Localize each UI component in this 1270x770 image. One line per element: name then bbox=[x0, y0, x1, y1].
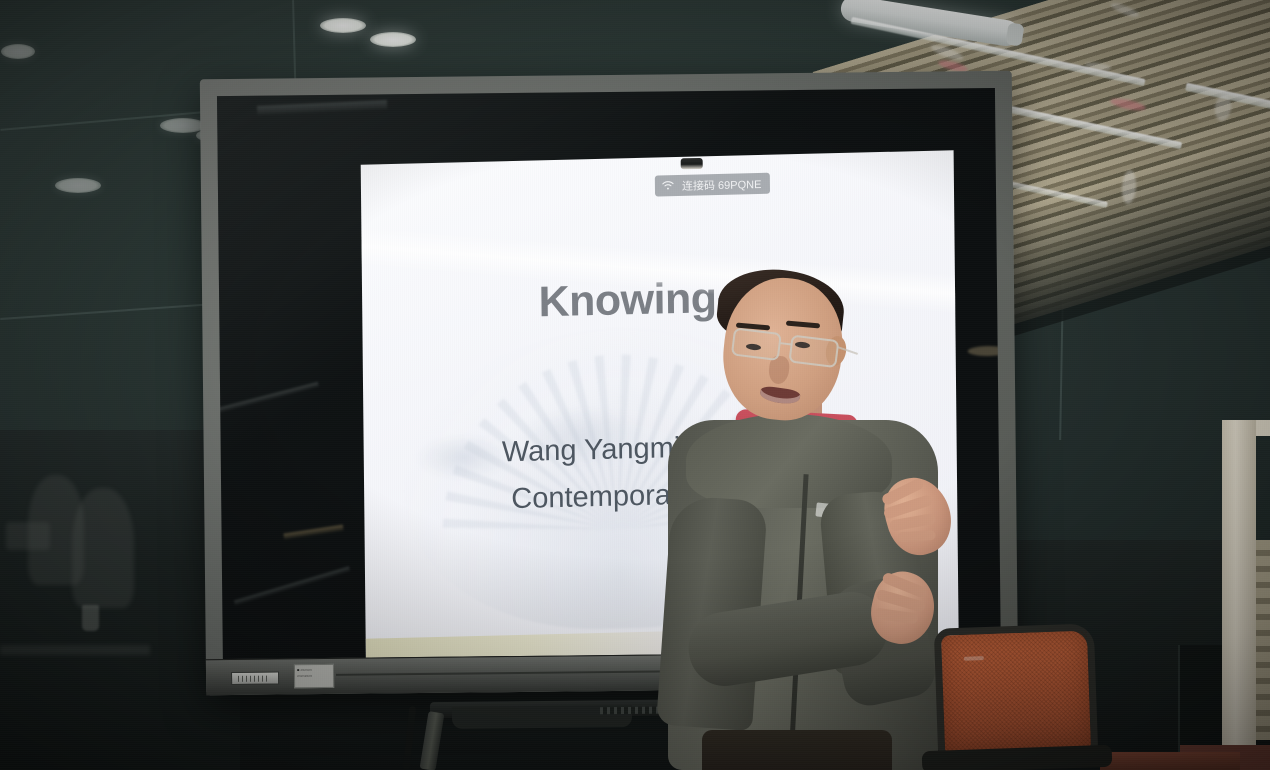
audience-silhouette bbox=[72, 488, 134, 608]
ceiling-downlight bbox=[1, 44, 35, 59]
camera-module-icon bbox=[681, 158, 703, 169]
ceiling-downlight bbox=[370, 32, 416, 47]
finger bbox=[897, 530, 936, 543]
chair-label-tag bbox=[964, 656, 984, 661]
glasses-temple bbox=[837, 346, 858, 355]
office-chair-back[interactable] bbox=[934, 623, 1098, 759]
ceiling-downlight bbox=[55, 178, 101, 193]
sticker-line-2: ▭▭▭▭ bbox=[297, 673, 331, 679]
finger bbox=[873, 607, 918, 624]
lens-right bbox=[788, 334, 839, 368]
wall-column bbox=[1222, 420, 1256, 770]
glasses-bridge bbox=[781, 342, 793, 345]
audience-desk-edge bbox=[0, 645, 150, 655]
connection-code-badge: 连接码 69PQNE bbox=[655, 173, 771, 197]
wifi-icon bbox=[661, 180, 675, 191]
port-panel[interactable] bbox=[231, 671, 279, 685]
presenter bbox=[650, 262, 980, 770]
trousers bbox=[702, 730, 892, 770]
paper-sheet bbox=[6, 522, 50, 550]
spec-sticker: ■ ▭▭▭ ▭▭▭▭ bbox=[294, 664, 334, 688]
connection-code-label: 连接码 69PQNE bbox=[682, 175, 762, 193]
wood-panel-right bbox=[1256, 540, 1270, 740]
wood-desk-right bbox=[1100, 752, 1240, 770]
paper-cup bbox=[82, 605, 99, 631]
ceiling-downlight bbox=[320, 18, 366, 33]
presentation-room-photo: Knowing-To Wang Yangming's C Contemporar… bbox=[0, 0, 1270, 770]
chair-mesh-texture bbox=[941, 630, 1091, 751]
lens-left bbox=[731, 327, 782, 361]
